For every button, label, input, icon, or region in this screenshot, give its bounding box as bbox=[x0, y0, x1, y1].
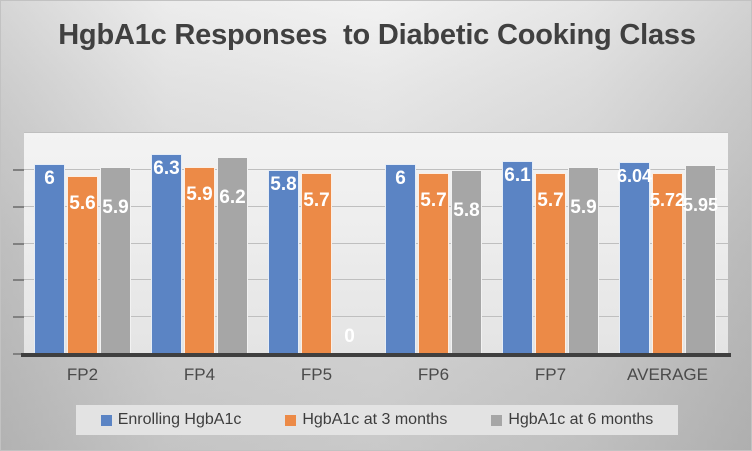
legend-label: Enrolling HgbA1c bbox=[118, 411, 242, 429]
y-axis-tick bbox=[13, 316, 24, 318]
bar-value-label: 6.3 bbox=[144, 158, 190, 180]
bar-value-label: 6.04 bbox=[612, 166, 658, 187]
bar-value-label: 6.1 bbox=[495, 165, 541, 187]
gridline bbox=[24, 132, 728, 133]
category-label-fp5: FP5 bbox=[258, 365, 375, 385]
legend-item[interactable]: HgbA1c at 3 months bbox=[285, 411, 447, 429]
bar-value-label: 6.2 bbox=[210, 187, 256, 209]
category-label-fp7: FP7 bbox=[492, 365, 609, 385]
legend-swatch-icon bbox=[101, 415, 112, 426]
y-axis-tick bbox=[13, 206, 24, 208]
bar-value-label: 5.95 bbox=[678, 195, 724, 216]
category-label-fp6: FP6 bbox=[375, 365, 492, 385]
legend-swatch-icon bbox=[491, 415, 502, 426]
legend-label: HgbA1c at 6 months bbox=[508, 411, 653, 429]
legend-label: HgbA1c at 3 months bbox=[302, 411, 447, 429]
legend-item[interactable]: HgbA1c at 6 months bbox=[491, 411, 653, 429]
bar-value-label: 6 bbox=[27, 168, 73, 190]
category-label-fp2: FP2 bbox=[24, 365, 141, 385]
legend-swatch-icon bbox=[285, 415, 296, 426]
bar-value-label: 5.7 bbox=[294, 190, 340, 212]
chart-container: HgbA1c Responses to Diabetic Cooking Cla… bbox=[0, 0, 752, 451]
legend-item[interactable]: Enrolling HgbA1c bbox=[101, 411, 242, 429]
category-label-average: AVERAGE bbox=[609, 365, 726, 385]
bar-value-label: 5.9 bbox=[561, 197, 607, 219]
y-axis-tick bbox=[13, 279, 24, 281]
bar-value-label: 0 bbox=[327, 326, 373, 348]
bar-value-label: 5.8 bbox=[444, 200, 490, 222]
bar-value-label: 6 bbox=[378, 168, 424, 190]
bar-value-label: 5.9 bbox=[93, 197, 139, 219]
category-label-fp4: FP4 bbox=[141, 365, 258, 385]
x-axis-line bbox=[21, 353, 731, 357]
y-axis-tick bbox=[13, 243, 24, 245]
chart-title: HgbA1c Responses to Diabetic Cooking Cla… bbox=[1, 15, 752, 55]
y-axis-tick bbox=[13, 169, 24, 171]
chart-legend: Enrolling HgbA1cHgbA1c at 3 monthsHgbA1c… bbox=[76, 405, 678, 435]
